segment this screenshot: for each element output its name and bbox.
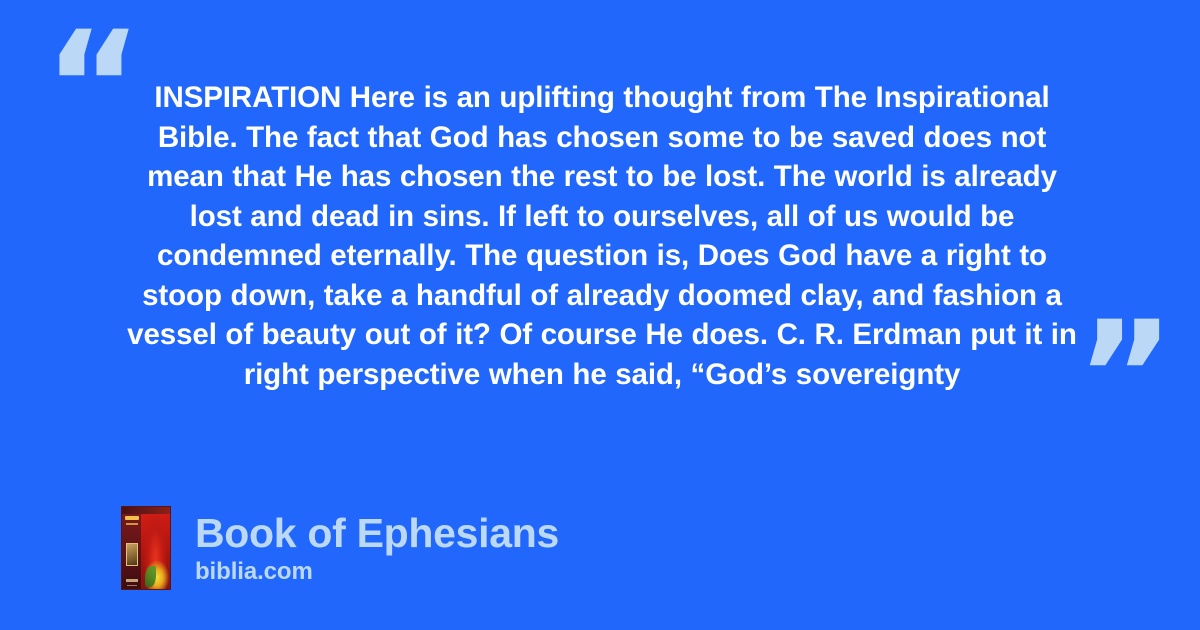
closing-quote-icon: ” — [1076, 302, 1173, 452]
book-title: Book of Ephesians — [195, 510, 559, 556]
brand-footer[interactable]: Book of Ephesians biblia.com — [121, 506, 559, 590]
quote-text: INSPIRATION Here is an uplifting thought… — [118, 78, 1086, 394]
book-cover-spine-footer — [126, 579, 138, 582]
site-url[interactable]: biblia.com — [195, 558, 559, 586]
book-cover-top-band — [122, 507, 170, 514]
book-cover-spine-title — [125, 516, 139, 520]
quote-block: INSPIRATION Here is an uplifting thought… — [118, 78, 1086, 394]
brand-text-group: Book of Ephesians biblia.com — [195, 510, 559, 586]
quote-share-card: “ INSPIRATION Here is an uplifting thoug… — [0, 0, 1200, 630]
book-cover-spine-photo — [126, 543, 138, 566]
book-cover-thumbnail-icon — [121, 506, 171, 590]
